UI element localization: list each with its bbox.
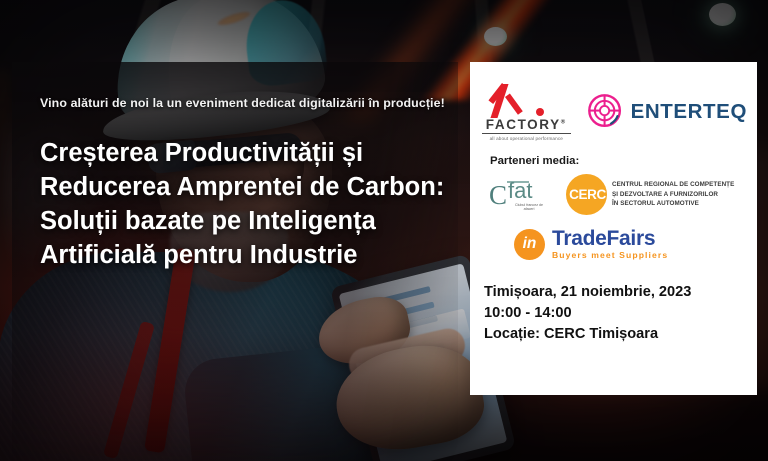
kfactory-dot — [536, 108, 544, 116]
kfactory-logo[interactable]: FACTORY® all about operational performan… — [480, 82, 573, 141]
event-time: 10:00 - 14:00 — [484, 303, 757, 324]
kfactory-tagline: all about operational performance — [480, 136, 573, 141]
tradefairs-tagline: Buyers meet Suppliers — [552, 251, 668, 260]
enterteq-logo[interactable]: ENTERTEQ — [587, 93, 747, 130]
registered-mark-icon: ® — [561, 120, 567, 126]
cerc-badge-icon: CERC — [566, 174, 607, 215]
kicker-text: Vino alături de noi la un eveniment dedi… — [40, 96, 450, 110]
headline-line-2: Reducerea Amprentei de Carbon: — [40, 170, 450, 204]
cerc-description: CENTRUL REGIONAL DE COMPETENȚE ȘI DEZVOL… — [612, 180, 734, 209]
headline-line-4: Artificială pentru Industrie — [40, 238, 450, 272]
kfactory-word-text: FACTORY — [486, 117, 561, 132]
kfactory-k-mark-icon — [480, 82, 573, 116]
kfactory-wordmark: FACTORY® — [480, 117, 573, 132]
partners-label: Parteneri media: — [490, 155, 757, 167]
left-text-block: Vino alături de noi la un eveniment dedi… — [40, 96, 450, 273]
event-details: Timișoara, 21 noiembrie, 2023 10:00 - 14… — [484, 282, 757, 345]
cerc-badge-text: CERC — [569, 187, 606, 202]
event-banner: Vino alături de noi la un eveniment dedi… — [0, 0, 768, 461]
page-title: Creșterea Productivității și Reducerea A… — [40, 136, 450, 273]
enterteq-mark-icon — [587, 93, 624, 130]
media-partners-row: C fat Clubul francez de afaceri CERC CEN… — [470, 167, 757, 215]
cfat-logo[interactable]: C fat Clubul francez de afaceri — [488, 175, 550, 215]
organizer-logo-row: FACTORY® all about operational performan… — [470, 62, 757, 145]
enterteq-wordmark: ENTERTEQ — [631, 100, 747, 124]
headline-line-1: Creșterea Productivității și — [40, 136, 450, 170]
kfactory-k-lower-arm — [505, 93, 523, 114]
tradefairs-wordmark: TradeFairs Buyers meet Suppliers — [552, 228, 668, 260]
headline-line-3: Soluții bazate pe Inteligența — [40, 204, 450, 238]
tradefairs-badge-text: in — [523, 235, 537, 253]
cfat-letter-c: C — [489, 182, 507, 209]
cerc-line-2: ȘI DEZVOLTARE A FURNIZORILOR — [612, 190, 734, 200]
info-card: FACTORY® all about operational performan… — [470, 62, 757, 395]
event-venue: Locație: CERC Timișoara — [484, 324, 757, 345]
cfat-tagline: Clubul francez de afaceri — [511, 203, 547, 213]
cerc-line-1: CENTRUL REGIONAL DE COMPETENȚE — [612, 180, 734, 190]
cfat-word: fat — [508, 180, 532, 202]
cerc-line-3: ÎN SECTORUL AUTOMOTIVE — [612, 199, 734, 209]
tradefairs-logo[interactable]: in TradeFairs Buyers meet Suppliers — [470, 215, 757, 260]
event-location-date: Timișoara, 21 noiembrie, 2023 — [484, 282, 757, 303]
kfactory-divider — [482, 133, 571, 134]
tradefairs-name: TradeFairs — [552, 228, 668, 250]
cerc-logo[interactable]: CERC CENTRUL REGIONAL DE COMPETENȚE ȘI D… — [566, 174, 734, 215]
tradefairs-badge-icon: in — [514, 229, 545, 260]
